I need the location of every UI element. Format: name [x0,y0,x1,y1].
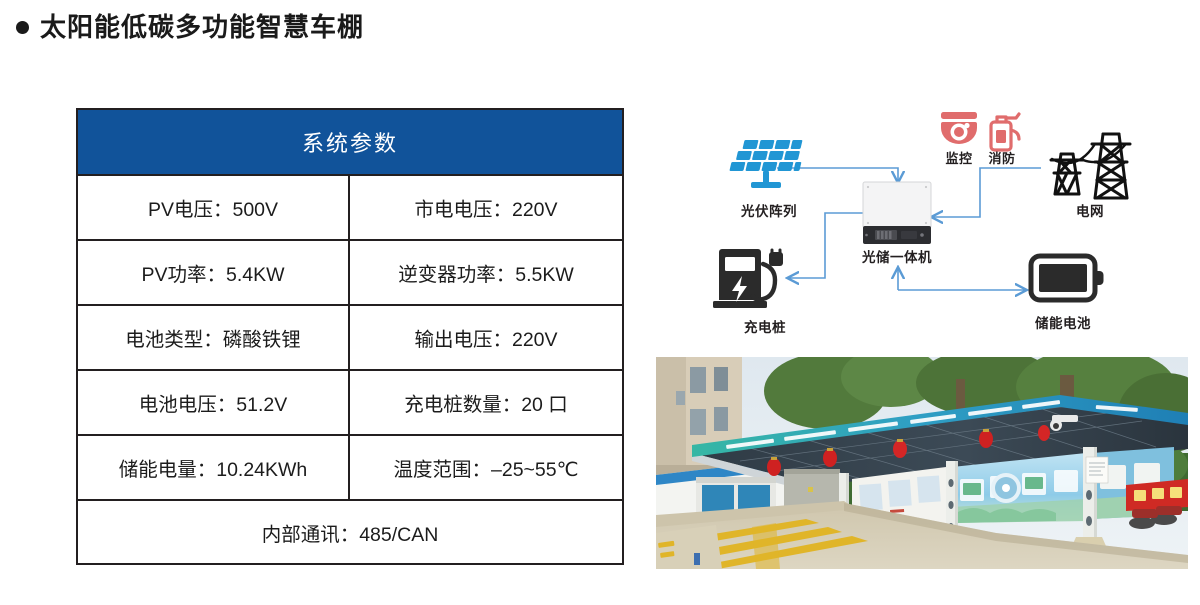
cell-internal-comm: 内部通讯：485/CAN [77,500,623,564]
carport-photo [656,357,1188,569]
label-power-grid: 电网 [1049,200,1131,220]
label-monitoring: 监控 [937,148,981,167]
bullet-icon [16,21,29,34]
cell-inverter-power: 逆变器功率：5.5KW [349,240,623,305]
label-storage-battery: 储能电池 [1015,312,1111,332]
table-row: 电池电压：51.2V 充电桩数量：20 口 [77,370,623,435]
table-header-row: 系统参数 [77,109,623,175]
table-row: PV电压：500V 市电电压：220V [77,175,623,240]
table-row: PV功率：5.4KW 逆变器功率：5.5KW [77,240,623,305]
carport-photo-image [656,357,1188,569]
table-row: 电池类型：磷酸铁锂 输出电压：220V [77,305,623,370]
cctv-camera-icon [941,112,977,144]
cell-temperature-range: 温度范围：–25~55℃ [349,435,623,500]
label-hybrid-inverter: 光储一体机 [847,246,947,266]
hybrid-inverter-icon [863,182,931,244]
storage-battery-icon [1031,256,1104,300]
system-flow-diagram: 光伏阵列 监控 消防 电网 光储一体机 充电桩 储能电池 [655,100,1190,350]
cell-grid-voltage: 市电电压：220V [349,175,623,240]
table-row: 储能电量：10.24KWh 温度范围：–25~55℃ [77,435,623,500]
label-pv-array: 光伏阵列 [721,200,817,220]
table-header-cell: 系统参数 [77,109,623,175]
page-title: 太阳能低碳多功能智慧车棚 [16,14,364,40]
cell-storage-capacity: 储能电量：10.24KWh [77,435,349,500]
cell-output-voltage: 输出电压：220V [349,305,623,370]
fire-extinguisher-icon [991,114,1019,150]
table-row: 内部通讯：485/CAN [77,500,623,564]
slide-root: 太阳能低碳多功能智慧车棚 系统参数 PV电压：500V 市电电压：220V PV… [0,0,1200,605]
charging-pile-icon [713,249,783,308]
cell-pv-voltage: PV电压：500V [77,175,349,240]
page-title-text: 太阳能低碳多功能智慧车棚 [40,14,364,40]
cell-charger-count: 充电桩数量：20 口 [349,370,623,435]
label-fire-protection: 消防 [980,148,1024,167]
solar-panel-icon [729,140,806,188]
label-charging-pile: 充电桩 [717,316,813,336]
cell-battery-type: 电池类型：磷酸铁锂 [77,305,349,370]
flow-grid-to-inverter [932,168,1041,217]
power-grid-tower-icon [1051,134,1130,198]
system-parameters-table: 系统参数 PV电压：500V 市电电压：220V PV功率：5.4KW 逆变器功… [76,108,624,565]
cell-pv-power: PV功率：5.4KW [77,240,349,305]
cell-battery-voltage: 电池电压：51.2V [77,370,349,435]
